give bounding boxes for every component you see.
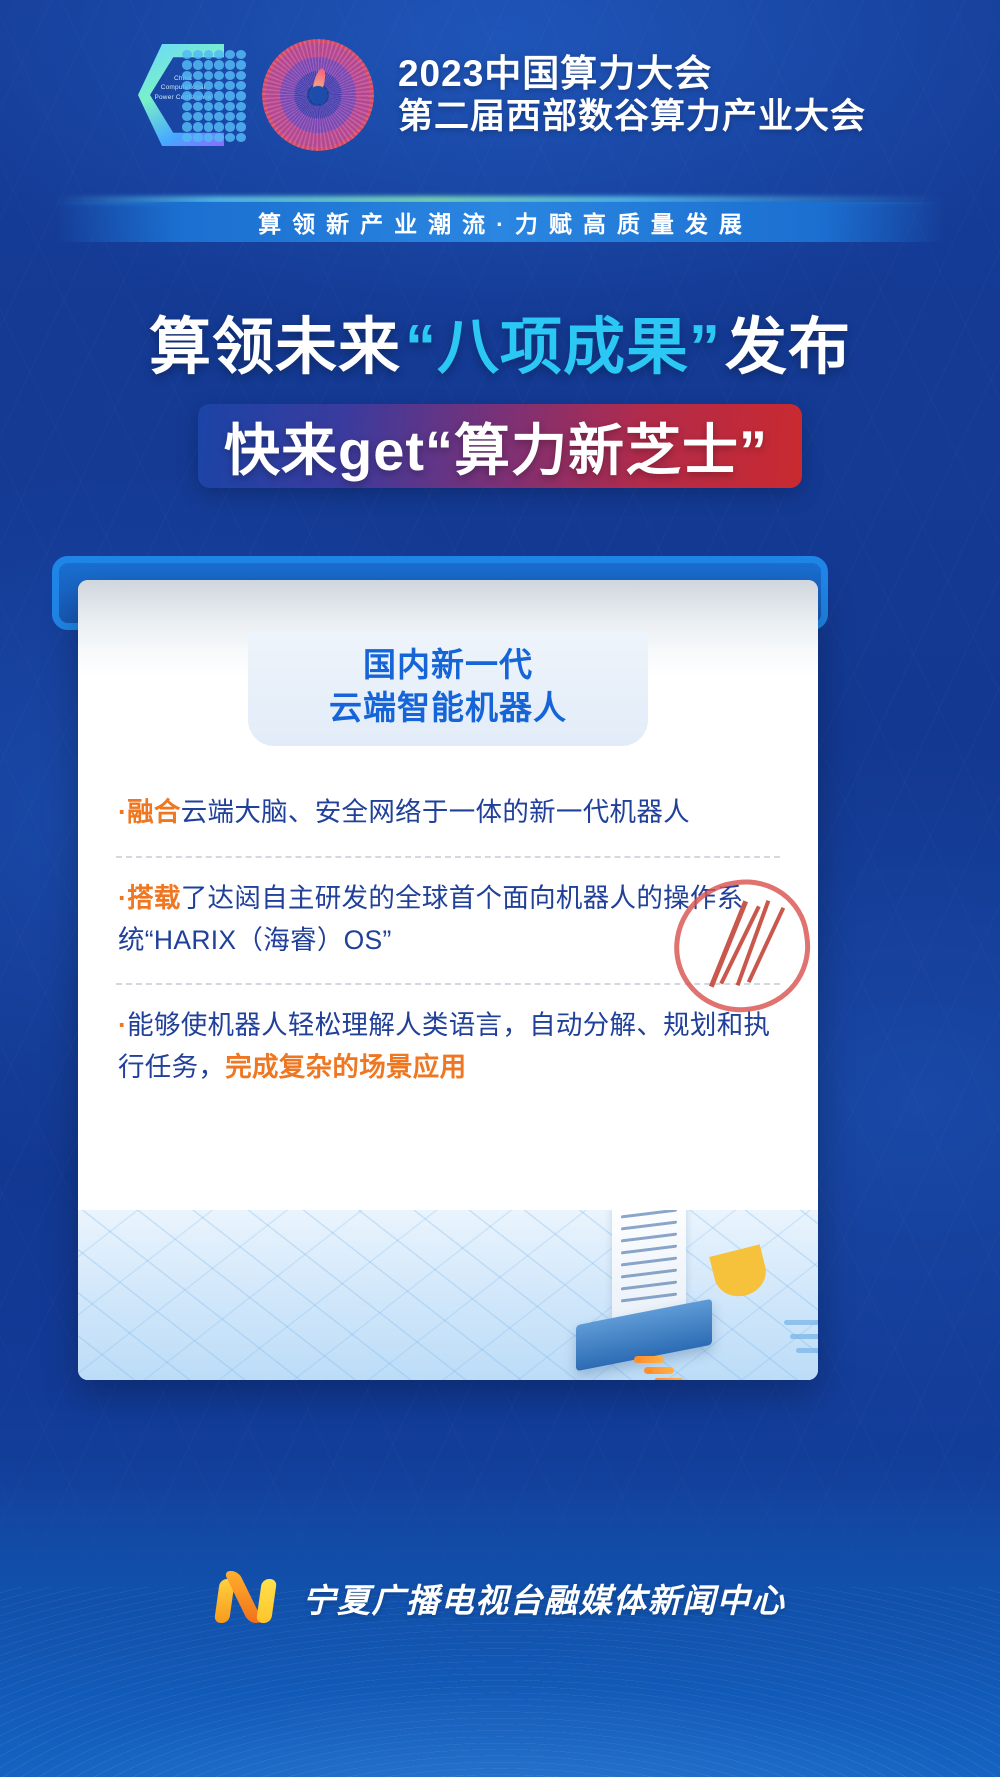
headline-line2-text: 快来get“算力新芝士” (224, 406, 768, 487)
slogan-banner: 算领新产业潮流·力赋高质量发展 (0, 196, 1000, 242)
headline-line1: 算领未来 “八项成果” 发布 (0, 296, 1000, 386)
bullet-tail-highlight: 完成复杂的场景应用 (225, 1052, 466, 1082)
card-title-line2: 云端智能机器人 (258, 687, 638, 730)
headline-part2: 发布 (725, 296, 851, 386)
bullet-dot: · (118, 797, 127, 827)
radial-fan-logo-icon (262, 39, 374, 151)
bullet-text: 了达闼自主研发的全球首个面向机器人的操作系统“HARIX（海睿）OS” (118, 883, 744, 955)
footer-brand-name: 宁夏广播电视台融媒体新闻中心 (303, 1574, 786, 1622)
headline-highlight: “八项成果” (405, 296, 721, 386)
card-illustration (78, 1210, 818, 1380)
bullet-highlight: 搭载 (127, 883, 181, 913)
card-title-pill: 国内新一代 云端智能机器人 (248, 632, 648, 746)
list-item: ·融合云端大脑、安全网络于一体的新一代机器人 (116, 772, 780, 856)
slogan-bar: 算领新产业潮流·力赋高质量发展 (55, 202, 945, 242)
headline-gradient-pill: 快来get“算力新芝士” (198, 404, 802, 488)
main-headline: 算领未来 “八项成果” 发布 快来get“算力新芝士” (0, 296, 1000, 488)
list-item: ·能够使机器人轻松理解人类语言，自动分解、规划和执行任务，完成复杂的场景应用 (116, 983, 780, 1111)
bullet-list: ·融合云端大脑、安全网络于一体的新一代机器人 ·搭载了达闼自主研发的全球首个面向… (116, 772, 780, 1111)
slogan-text: 算领新产业潮流·力赋高质量发展 (247, 205, 753, 239)
card-title-line1: 国内新一代 (258, 644, 638, 687)
achievement-card: 国内新一代 云端智能机器人 ·融合云端大脑、安全网络于一体的新一代机器人 ·搭载… (78, 580, 818, 1380)
list-item: ·搭载了达闼自主研发的全球首个面向机器人的操作系统“HARIX（海睿）OS” (116, 856, 780, 984)
bullet-dot: · (118, 883, 127, 913)
logo-dot-matrix-icon (182, 50, 246, 142)
yellow-accent-shape-icon (709, 1244, 771, 1301)
poster-footer: 宁夏广播电视台融媒体新闻中心 (0, 1477, 1000, 1777)
broadcaster-n-logo-icon (215, 1569, 289, 1627)
bullet-highlight: 融合 (127, 797, 181, 827)
headline-line2-wrapper: 快来get“算力新芝士” (0, 404, 1000, 488)
bullet-dot: · (118, 1010, 127, 1040)
header-title-line2: 第二届西部数谷算力产业大会 (398, 96, 866, 139)
poster-header: China Computational Power Conference 202… (0, 0, 1000, 190)
card-content: 国内新一代 云端智能机器人 ·融合云端大脑、安全网络于一体的新一代机器人 ·搭载… (78, 580, 818, 1111)
conference-hexagon-logo-icon: China Computational Power Conference (134, 40, 244, 150)
headline-part1: 算领未来 (149, 296, 401, 386)
header-title-block: 2023中国算力大会 第二届西部数谷算力产业大会 (398, 51, 866, 139)
header-title-line1: 2023中国算力大会 (398, 51, 866, 96)
document-illustration-icon (612, 1210, 686, 1321)
footer-brand: 宁夏广播电视台融媒体新闻中心 (0, 1569, 1000, 1627)
bullet-text: 云端大脑、安全网络于一体的新一代机器人 (181, 797, 690, 827)
